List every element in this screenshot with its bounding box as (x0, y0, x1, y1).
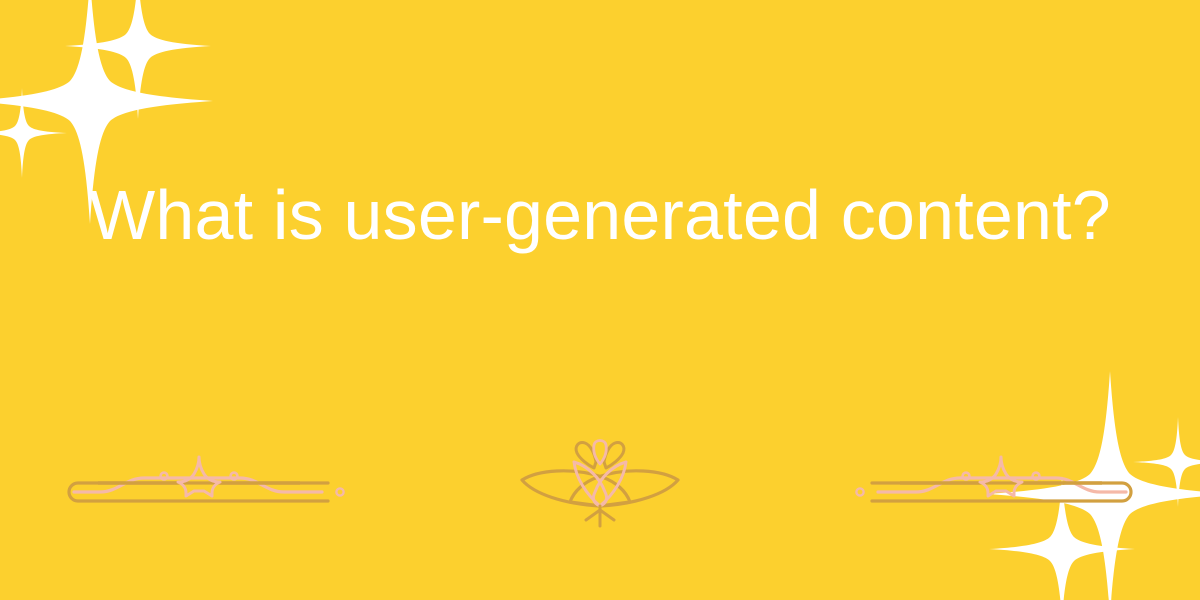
ornament-container (0, 432, 1200, 532)
ornament-lotus-motif (522, 441, 678, 527)
banner-canvas: What is user-generated content? (0, 0, 1200, 600)
title-container: What is user-generated content? (0, 0, 1200, 430)
ornament-left-wing (69, 457, 344, 501)
page-title: What is user-generated content? (49, 176, 1151, 254)
lotus-divider-icon (50, 432, 1150, 532)
ornament-right-wing (856, 457, 1131, 501)
